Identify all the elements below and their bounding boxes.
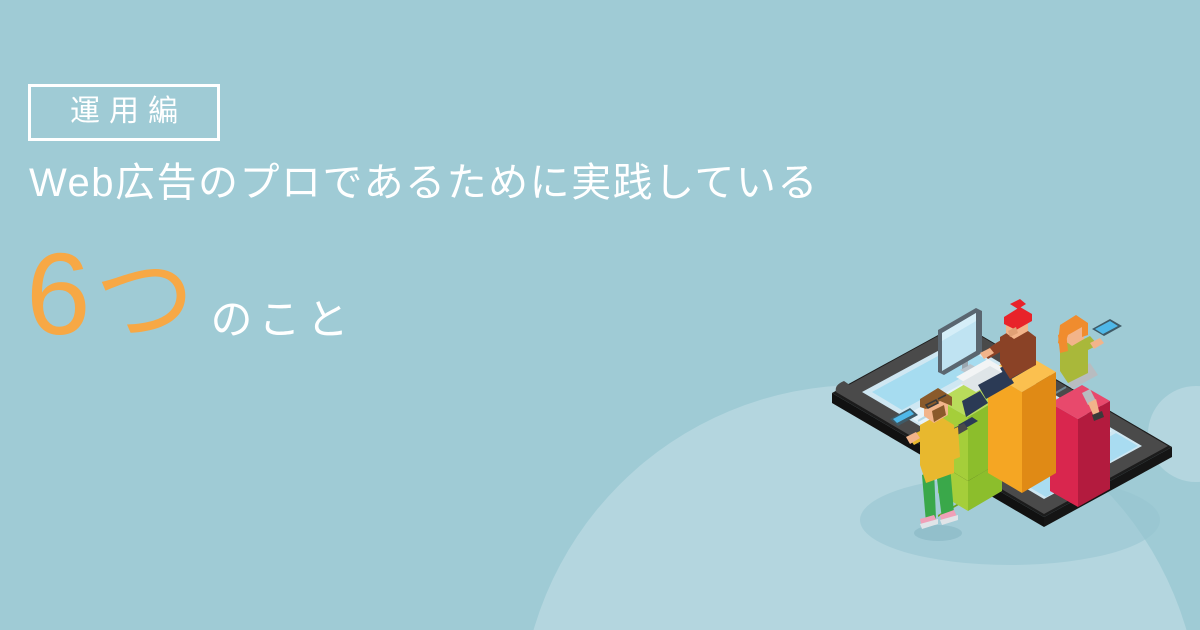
count-headline: 6 つ のこと <box>26 236 355 352</box>
count-number: 6 <box>26 236 91 352</box>
hero-illustration <box>810 225 1190 565</box>
count-suffix: のこと <box>211 299 355 341</box>
banner-root: 運用編 Web広告のプロであるために実践している 6 つ のこと <box>0 0 1200 630</box>
red-bar <box>1050 385 1110 507</box>
category-badge-label: 運用編 <box>61 97 187 127</box>
page-title: Web広告のプロであるために実践している <box>29 160 819 207</box>
count-unit: つ <box>95 250 195 350</box>
category-badge: 運用編 <box>28 84 220 141</box>
text-block: 運用編 Web広告のプロであるために実践している 6 つ のこと <box>0 0 820 630</box>
